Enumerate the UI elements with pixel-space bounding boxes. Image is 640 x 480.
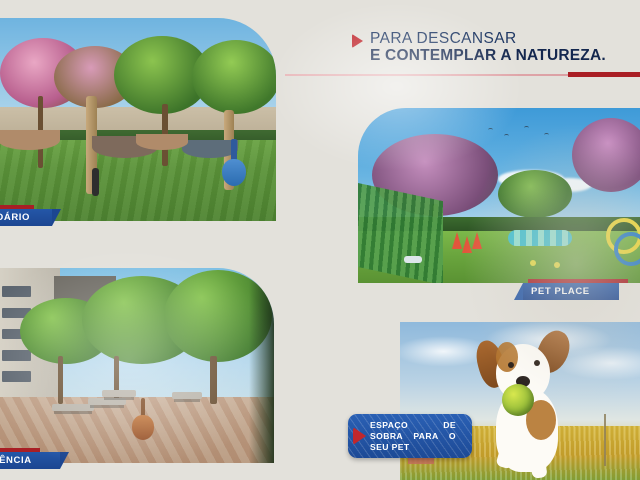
header-line-1: PARA DESCANSAR: [370, 30, 606, 47]
guitar-prop: [222, 142, 246, 186]
tree-green: [192, 40, 276, 114]
photo-card-convivencia: [0, 268, 274, 463]
agility-tunnel: [508, 230, 572, 246]
badge-label: PET PLACE: [523, 286, 600, 297]
callout-line2-left: SOBRA: [370, 431, 403, 442]
agility-cone: [472, 232, 482, 249]
tree-blossom: [572, 118, 640, 192]
header-block: PARA DESCANSAR E CONTEMPLAR A NATUREZA.: [352, 30, 632, 65]
green-fence: [358, 183, 443, 283]
fence-pole: [604, 414, 606, 466]
badge-convivencia: VIVÊNCIA: [0, 452, 60, 469]
photo-card-redario: [0, 18, 276, 221]
callout-line1-right: DE: [443, 420, 456, 431]
header-line-2: E CONTEMPLAR A NATUREZA.: [370, 47, 606, 65]
bench: [102, 390, 136, 397]
tree-trunk: [58, 356, 63, 404]
callout-line3: SEU PET: [370, 442, 410, 453]
arrow-right-icon: [352, 34, 363, 48]
toy-ball: [530, 260, 536, 266]
lamp-post: [92, 168, 99, 196]
photo-card-pet-place: [358, 108, 640, 283]
callout-line2-right: O: [449, 431, 456, 442]
tree-green: [498, 170, 572, 218]
arrow-right-icon: [353, 427, 366, 445]
guitar-prop: [132, 400, 154, 440]
bench: [172, 392, 202, 399]
badge-redario: REDÁRIO: [0, 209, 52, 226]
toy-ball: [554, 262, 560, 268]
slide-canvas: REDÁRIO PET PLACE: [0, 0, 640, 480]
agility-cone: [452, 232, 462, 249]
badge-label: REDÁRIO: [0, 212, 40, 223]
bird: [504, 134, 509, 138]
callout-pet-space: ESPAÇO DE SOBRA PARA O SEU PET: [348, 414, 472, 458]
header-divider: [285, 74, 570, 76]
tree-trunk: [210, 356, 217, 404]
bench: [88, 398, 126, 405]
callout-line2-mid: PARA: [413, 431, 438, 442]
dog-eye: [534, 360, 540, 366]
agility-cone: [462, 236, 472, 253]
dog-eye: [508, 362, 514, 368]
bench: [52, 404, 94, 411]
bird: [524, 126, 529, 130]
badge-pet-place: PET PLACE: [523, 283, 619, 300]
bird: [488, 128, 493, 132]
header-divider-accent: [568, 72, 640, 77]
callout-text: ESPAÇO DE SOBRA PARA O SEU PET: [370, 420, 456, 453]
hammock: [136, 134, 188, 150]
vignette: [249, 268, 274, 463]
bird: [544, 133, 549, 137]
agility-hoop: [614, 232, 640, 266]
badge-label: VIVÊNCIA: [0, 455, 42, 466]
dog-patch: [496, 342, 518, 372]
water-bowl: [404, 256, 422, 263]
callout-line1-left: ESPAÇO: [370, 420, 408, 431]
hammock: [0, 130, 60, 150]
tennis-ball: [502, 384, 534, 416]
